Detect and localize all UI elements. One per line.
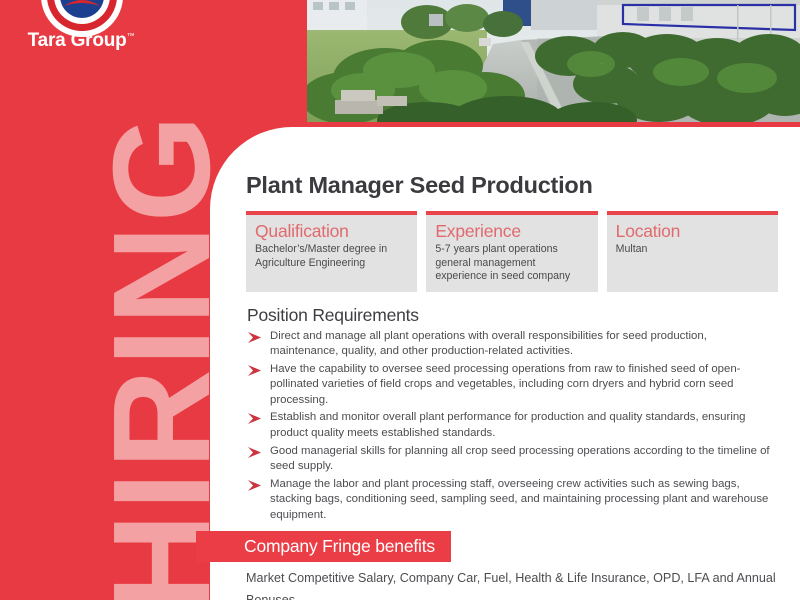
job-poster: HIRING Tara Group™ Plant Manager Seed Pr…: [0, 0, 800, 600]
info-box-body: Bachelor’s/Master degree in Agriculture …: [255, 243, 408, 270]
requirement-text: Good managerial skills for planning all …: [270, 445, 770, 473]
info-boxes-row: Qualification Bachelor’s/Master degree i…: [246, 211, 778, 292]
arrow-bullet-icon: [248, 413, 261, 424]
requirement-item: Direct and manage all plant operations w…: [247, 329, 778, 360]
requirement-item: Have the capability to oversee seed proc…: [247, 362, 778, 409]
info-box-location: Location Multan: [607, 211, 778, 292]
info-box-body: Multan: [616, 243, 769, 257]
info-box-heading: Qualification: [255, 221, 408, 242]
fringe-benefits-title: Company Fringe benefits: [196, 531, 451, 562]
arrow-bullet-icon: [248, 480, 261, 491]
requirement-text: Establish and monitor overall plant perf…: [270, 411, 746, 439]
trademark-symbol: ™: [127, 32, 135, 41]
fringe-benefits-text: Market Competitive Salary, Company Car, …: [246, 567, 786, 600]
campus-photo-illustration: [307, 0, 800, 122]
arrow-bullet-icon: [248, 447, 261, 458]
requirement-item: Manage the labor and plant processing st…: [247, 477, 778, 524]
content-card: Plant Manager Seed Production Qualificat…: [210, 127, 800, 600]
arrow-bullet-icon: [248, 332, 261, 343]
requirements-list: Direct and manage all plant operations w…: [247, 329, 778, 524]
info-box-experience: Experience 5-7 years plant operations ge…: [426, 211, 597, 292]
requirement-text: Manage the labor and plant processing st…: [270, 478, 768, 521]
job-title: Plant Manager Seed Production: [246, 172, 778, 199]
info-box-qualification: Qualification Bachelor’s/Master degree i…: [246, 211, 417, 292]
requirement-item: Good managerial skills for planning all …: [247, 444, 778, 475]
requirements-title: Position Requirements: [247, 305, 778, 326]
info-box-body: 5-7 years plant operations general manag…: [435, 243, 588, 284]
arrow-bullet-icon: [248, 365, 261, 376]
info-box-heading: Location: [616, 221, 769, 242]
requirement-text: Direct and manage all plant operations w…: [270, 330, 707, 358]
brand-name: Tara Group™: [18, 30, 144, 52]
brand-logo: Tara Group™: [18, 0, 144, 54]
info-box-heading: Experience: [435, 221, 588, 242]
campus-photo: [307, 0, 800, 122]
requirement-text: Have the capability to oversee seed proc…: [270, 363, 740, 406]
requirement-item: Establish and monitor overall plant perf…: [247, 410, 778, 441]
brand-name-text: Tara Group: [28, 30, 127, 51]
